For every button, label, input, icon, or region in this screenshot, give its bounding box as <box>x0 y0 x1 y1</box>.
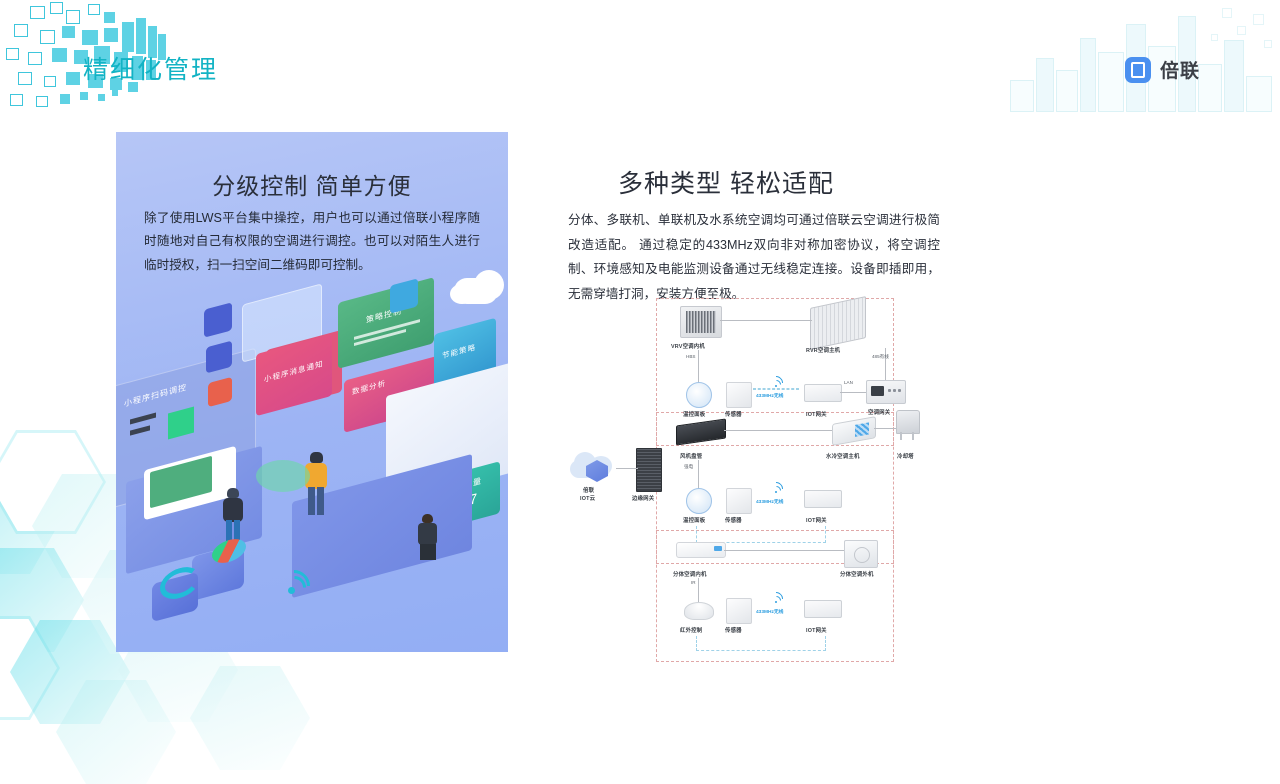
wire-label-strong-power: 强电 <box>684 464 693 470</box>
right-column-title: 多种类型 轻松适配 <box>618 164 834 200</box>
split-outdoor-ac-icon <box>844 540 878 568</box>
illustration-card-strategy <box>338 277 434 369</box>
wire-ir <box>698 578 699 604</box>
wire-vrv-indoor-to-outdoor <box>720 320 812 321</box>
right-feature-column: 多种类型 轻松适配 分体、多联机、单联机及水系统空调均可通过倍联云空调进行极简改… <box>560 132 1200 652</box>
sensor-icon <box>726 488 752 514</box>
cooling-tower-icon <box>896 410 920 434</box>
wire-cloud-to-edge <box>616 468 638 469</box>
ac-iot-topology-diagram: VRV空调内机 RVR空调主机 HBS 温控面板 传感器 433MHz无线 IO… <box>560 302 960 642</box>
node-label-sensor-2: 传感器 <box>725 516 742 524</box>
topology-uplink-dashed-fcu <box>696 526 826 543</box>
wire-label-485: 485有线 <box>872 354 889 360</box>
wire-split-indoor-to-outdoor <box>724 550 844 551</box>
node-label-iot-gateway-2: IOT网关 <box>806 516 827 524</box>
node-label-cloud-line2: IOT云 <box>580 494 595 502</box>
node-label-ir-control: 红外控制 <box>680 626 702 634</box>
node-label-sensor-3: 传感器 <box>725 626 742 634</box>
node-label-split-indoor: 分体空调内机 <box>673 570 707 578</box>
illustration-green-plate <box>256 460 310 492</box>
node-label-vrv-indoor: VRV空调内机 <box>671 342 705 350</box>
round-thermostat-icon <box>686 382 712 408</box>
wire-label-hbs: HBS <box>686 354 695 359</box>
wire-chiller-to-tower <box>874 428 896 429</box>
ac-gateway-icon <box>866 380 906 404</box>
node-label-water-chiller: 水冷空调主机 <box>826 452 860 460</box>
wifi-icon <box>769 482 783 494</box>
gateway-icon <box>804 384 842 402</box>
node-label-cooling-tower: 冷却塔 <box>897 452 914 460</box>
rf-label-vrv: 433MHz无线 <box>756 392 783 399</box>
wifi-icon <box>276 568 310 598</box>
cloud-icon <box>444 264 508 310</box>
wire-label-lan: LAN <box>844 380 853 385</box>
node-label-iot-gateway-1: IOT网关 <box>806 410 827 418</box>
cloud-icon <box>568 448 618 484</box>
left-card-title: 分级控制 简单方便 <box>116 167 508 201</box>
node-label-cloud-line1: 倍联 <box>583 486 594 494</box>
server-rack-icon <box>636 448 662 492</box>
node-label-iot-gateway-3: IOT网关 <box>806 626 827 634</box>
cassette-ac-icon <box>680 306 722 338</box>
sensor-icon <box>726 382 752 408</box>
node-label-edge-gateway: 边缘网关 <box>632 494 654 502</box>
brand-logo: 倍联 <box>1125 56 1200 83</box>
rf-label-fcu: 433MHz无线 <box>756 498 783 505</box>
round-thermostat-icon <box>686 488 712 514</box>
wifi-icon <box>769 376 783 388</box>
ir-dome-icon <box>684 602 714 620</box>
illustration-person-center <box>302 452 330 518</box>
brand-name: 倍联 <box>1160 56 1200 83</box>
wire-hbs <box>698 350 699 384</box>
split-indoor-ac-icon <box>676 542 726 558</box>
illustration-badge-authorize <box>204 302 232 338</box>
right-column-body: 分体、多联机、单联机及水系统空调均可通过倍联云空调进行极简改造适配。 通过稳定的… <box>568 208 940 306</box>
page-header: 精细化管理 倍联 <box>0 0 1280 118</box>
node-label-fcu: 风机盘管 <box>680 452 702 460</box>
left-feature-card: 分级控制 简单方便 除了使用LWS平台集中操控，用户也可以通过倍联小程序随时随地… <box>116 132 508 652</box>
left-card-body: 除了使用LWS平台集中操控，用户也可以通过倍联小程序随时随地对自己有权限的空调进… <box>144 207 480 277</box>
wifi-icon <box>769 592 783 604</box>
node-label-ac-gateway: 空调网关 <box>868 408 890 416</box>
node-label-thermostat-1: 温控面板 <box>683 410 705 418</box>
page-title: 精细化管理 <box>83 50 218 86</box>
square-logo-icon <box>1125 57 1151 83</box>
wire-strong-power <box>698 460 699 490</box>
sensor-icon <box>726 598 752 624</box>
wire-fcu-to-chiller <box>724 430 832 431</box>
node-label-split-outdoor: 分体空调外机 <box>840 570 874 578</box>
wire-label-ir: IR <box>691 580 696 585</box>
gateway-icon <box>804 600 842 618</box>
topology-uplink-dashed-split <box>696 636 826 651</box>
left-card-illustration: 小程序扫码调控 小程序消息通知 策略控制 数据分析 节能策略 <box>116 282 508 652</box>
rf-label-split: 433MHz无线 <box>756 608 783 615</box>
illustration-person-right <box>416 514 440 562</box>
node-label-vrv-outdoor: RVR空调主机 <box>806 346 840 354</box>
wire-lan <box>840 392 868 393</box>
node-label-sensor-1: 传感器 <box>725 410 742 418</box>
gateway-icon <box>804 490 842 508</box>
node-label-thermostat-2: 温控面板 <box>683 516 705 524</box>
wire-485 <box>885 348 886 380</box>
illustration-person-left <box>220 488 246 544</box>
